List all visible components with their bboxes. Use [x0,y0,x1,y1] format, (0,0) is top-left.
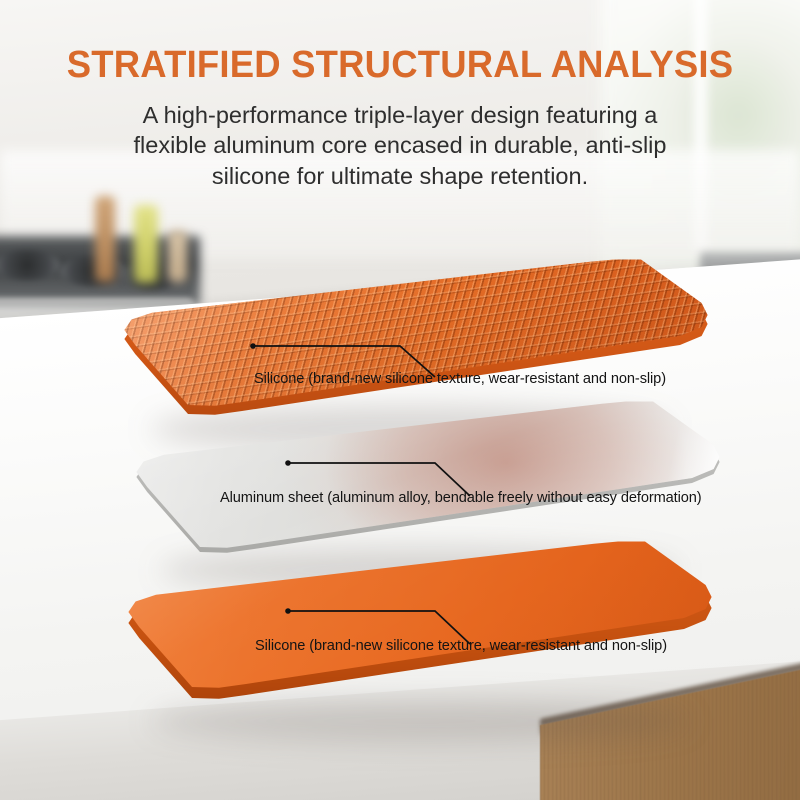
page-subtitle: A high-performance triple-layer design f… [50,100,750,192]
callout-label: Aluminum sheet (aluminum alloy, bendable… [220,490,702,506]
page-title: STRATIFIED STRUCTURAL ANALYSIS [16,0,784,86]
callout-label: Silicone (brand-new silicone texture, we… [255,638,667,654]
layer-shadow [150,700,690,742]
infographic-canvas: STRATIFIED STRUCTURAL ANALYSIS A high-pe… [0,0,800,800]
subtitle-line: flexible aluminum core encased in durabl… [50,130,750,161]
subtitle-line: A high-performance triple-layer design f… [50,100,750,131]
callout-label: Silicone (brand-new silicone texture, we… [254,371,666,387]
subtitle-line: silicone for ultimate shape retention. [50,161,750,192]
header: STRATIFIED STRUCTURAL ANALYSIS A high-pe… [0,0,800,192]
